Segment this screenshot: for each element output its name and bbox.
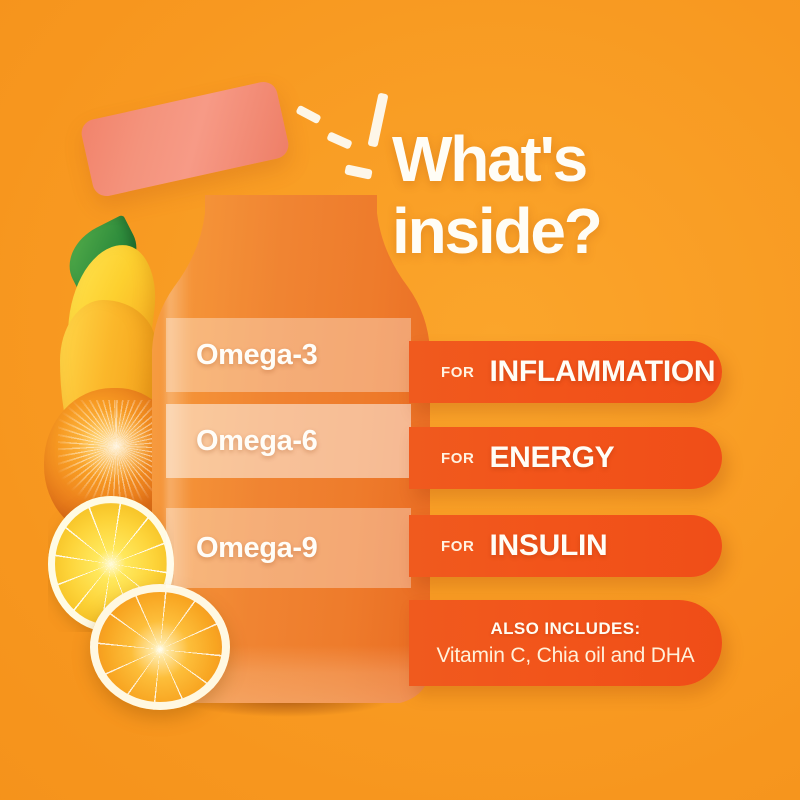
sparkle-dash-1-icon xyxy=(295,105,321,125)
also-includes-body: Vitamin C, Chia oil and DHA xyxy=(437,644,695,668)
ingredient-label-omega-6: Omega-6 xyxy=(166,404,411,478)
headline-line-2: inside? xyxy=(392,199,732,265)
also-includes-pill[interactable]: ALSO INCLUDES: Vitamin C, Chia oil and D… xyxy=(409,600,722,686)
for-label: FOR xyxy=(441,364,474,381)
benefit-pill-inflammation[interactable]: FOR INFLAMMATION xyxy=(409,341,722,403)
headline-line-1: What's xyxy=(392,123,586,195)
orange-slice-rind-icon xyxy=(90,584,230,710)
benefit-pill-insulin[interactable]: FOR INSULIN xyxy=(409,515,722,577)
benefit-label: ENERGY xyxy=(489,441,614,475)
ingredient-name: Omega-6 xyxy=(196,425,317,458)
benefit-pill-energy[interactable]: FOR ENERGY xyxy=(409,427,722,489)
sparkle-dash-3-icon xyxy=(344,164,372,179)
sparkle-dash-2-icon xyxy=(326,131,352,149)
poster-canvas: What's inside? Omega-3 Omega-6 Omega-9 F… xyxy=(0,0,800,800)
for-label: FOR xyxy=(441,538,474,555)
for-label: FOR xyxy=(441,450,474,467)
ingredient-label-omega-9: Omega-9 xyxy=(166,508,411,588)
benefit-label: INFLAMMATION xyxy=(489,355,715,389)
bottle-cap-icon xyxy=(79,79,291,198)
benefit-label: INSULIN xyxy=(489,529,607,563)
page-title: What's inside? xyxy=(392,127,732,265)
ingredient-name: Omega-9 xyxy=(196,532,317,565)
also-includes-title: ALSO INCLUDES: xyxy=(490,619,640,639)
sparkle-dash-4-icon xyxy=(367,93,388,148)
ingredient-name: Omega-3 xyxy=(196,339,317,372)
ingredient-label-omega-3: Omega-3 xyxy=(166,318,411,392)
